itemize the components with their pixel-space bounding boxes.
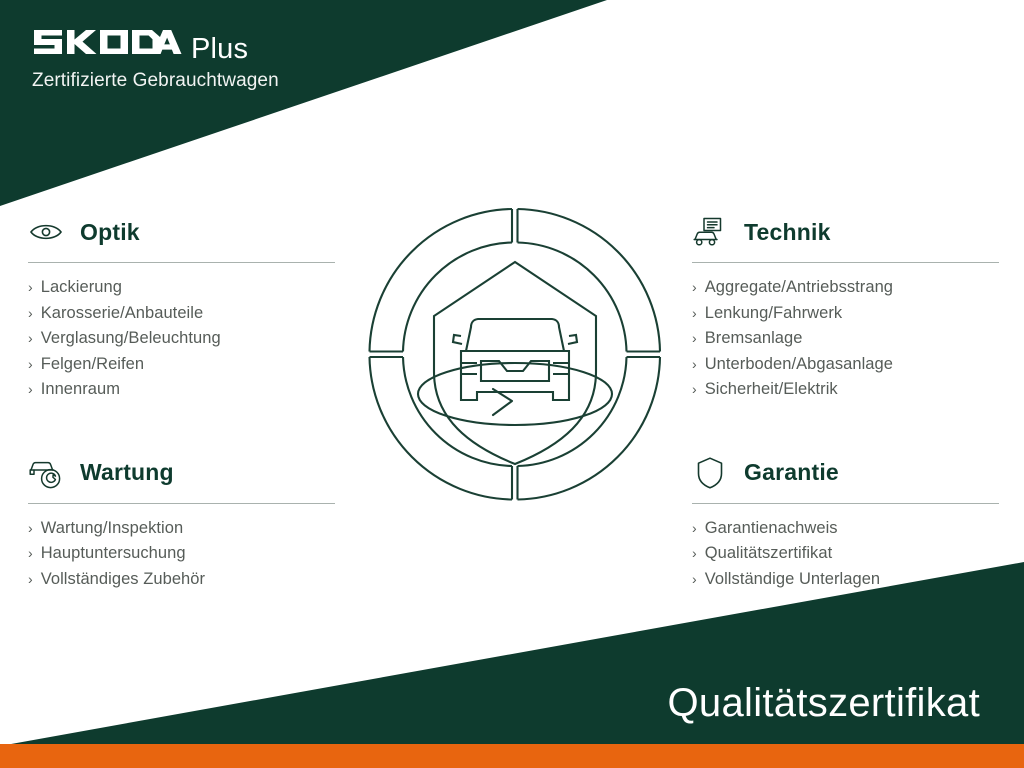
list-item: ›Sicherheit/Elektrik: [692, 377, 1024, 403]
chevron-right-icon: ›: [692, 377, 697, 402]
list-item-label: Lackierung: [41, 275, 122, 301]
section-header-optik: Optik: [28, 212, 366, 252]
chevron-right-icon: ›: [28, 301, 33, 326]
section-list-garantie: ›Garantienachweis ›Qualitätszertifikat ›…: [692, 516, 1024, 593]
chevron-right-icon: ›: [692, 275, 697, 300]
brand-lockup: Plus Zertifizierte Gebrauchtwagen: [32, 26, 279, 92]
list-item: ›Karosserie/Anbauteile: [28, 301, 366, 327]
certificate-page: Plus Zertifizierte Gebrauchtwagen Optik: [0, 0, 1024, 768]
chevron-right-icon: ›: [692, 567, 697, 592]
chevron-right-icon: ›: [28, 352, 33, 377]
list-item: ›Vollständiges Zubehör: [28, 567, 366, 593]
section-list-optik: ›Lackierung ›Karosserie/Anbauteile ›Verg…: [28, 275, 366, 403]
list-item-label: Felgen/Reifen: [41, 352, 144, 378]
chevron-right-icon: ›: [692, 352, 697, 377]
section-technik: Technik ›Aggregate/Antriebsstrang ›Lenku…: [692, 212, 1024, 403]
section-optik: Optik ›Lackierung ›Karosserie/Anbauteile…: [28, 212, 366, 403]
list-item-label: Aggregate/Antriebsstrang: [705, 275, 893, 301]
skoda-wordmark: [32, 26, 182, 58]
brand-suffix: Plus: [191, 35, 248, 64]
chevron-right-icon: ›: [28, 516, 33, 541]
list-item: ›Innenraum: [28, 377, 366, 403]
list-item-label: Karosserie/Anbauteile: [41, 301, 203, 327]
list-item-label: Unterboden/Abgasanlage: [705, 352, 893, 378]
chevron-right-icon: ›: [28, 567, 33, 592]
section-divider: [692, 262, 999, 263]
section-header-wartung: Wartung: [28, 453, 366, 493]
list-item-label: Bremsanlage: [705, 326, 803, 352]
list-item-label: Vollständiges Zubehör: [41, 567, 205, 593]
orange-accent-bar: [0, 744, 1024, 768]
section-title: Wartung: [80, 459, 174, 486]
chevron-right-icon: ›: [28, 326, 33, 351]
list-item-label: Verglasung/Beleuchtung: [41, 326, 221, 352]
chevron-right-icon: ›: [28, 377, 33, 402]
chevron-right-icon: ›: [692, 516, 697, 541]
section-wartung: Wartung ›Wartung/Inspektion ›Hauptunters…: [28, 453, 366, 593]
section-divider: [692, 503, 999, 504]
list-item: ›Qualitätszertifikat: [692, 541, 1024, 567]
list-item: ›Vollständige Unterlagen: [692, 567, 1024, 593]
list-item: ›Lackierung: [28, 275, 366, 301]
list-item: ›Hauptuntersuchung: [28, 541, 366, 567]
section-header-technik: Technik: [692, 212, 1024, 252]
section-header-garantie: Garantie: [692, 453, 1024, 493]
list-item-label: Vollständige Unterlagen: [705, 567, 880, 593]
shield-car-rotation-emblem: [357, 196, 673, 512]
chevron-right-icon: ›: [28, 275, 33, 300]
list-item: ›Lenkung/Fahrwerk: [692, 301, 1024, 327]
list-item: ›Verglasung/Beleuchtung: [28, 326, 366, 352]
section-title: Optik: [80, 219, 140, 246]
list-item: ›Garantienachweis: [692, 516, 1024, 542]
chevron-right-icon: ›: [28, 541, 33, 566]
list-item-label: Innenraum: [41, 377, 120, 403]
footer-title: Qualitätszertifikat: [668, 681, 980, 726]
list-item-label: Lenkung/Fahrwerk: [705, 301, 842, 327]
section-garantie: Garantie ›Garantienachweis ›Qualitätszer…: [692, 453, 1024, 593]
right-column: Technik ›Aggregate/Antriebsstrang ›Lenku…: [692, 212, 1024, 593]
list-item: ›Wartung/Inspektion: [28, 516, 366, 542]
list-item-label: Qualitätszertifikat: [705, 541, 833, 567]
eye-icon: [28, 215, 64, 249]
left-column: Optik ›Lackierung ›Karosserie/Anbauteile…: [28, 212, 366, 593]
chevron-right-icon: ›: [692, 301, 697, 326]
shield-icon: [692, 456, 728, 490]
section-title: Technik: [744, 219, 831, 246]
list-item-label: Garantienachweis: [705, 516, 838, 542]
car-wrench-icon: [28, 456, 64, 490]
car-document-icon: [692, 215, 728, 249]
list-item: ›Aggregate/Antriebsstrang: [692, 275, 1024, 301]
section-title: Garantie: [744, 459, 839, 486]
brand-tagline: Zertifizierte Gebrauchtwagen: [32, 71, 279, 92]
list-item-label: Sicherheit/Elektrik: [705, 377, 838, 403]
list-item: ›Bremsanlage: [692, 326, 1024, 352]
list-item: ›Unterboden/Abgasanlage: [692, 352, 1024, 378]
list-item-label: Hauptuntersuchung: [41, 541, 186, 567]
section-list-wartung: ›Wartung/Inspektion ›Hauptuntersuchung ›…: [28, 516, 366, 593]
section-list-technik: ›Aggregate/Antriebsstrang ›Lenkung/Fahrw…: [692, 275, 1024, 403]
section-divider: [28, 503, 335, 504]
chevron-right-icon: ›: [692, 541, 697, 566]
list-item: ›Felgen/Reifen: [28, 352, 366, 378]
section-divider: [28, 262, 335, 263]
brand-title-row: Plus: [32, 26, 279, 64]
list-item-label: Wartung/Inspektion: [41, 516, 183, 542]
chevron-right-icon: ›: [692, 326, 697, 351]
